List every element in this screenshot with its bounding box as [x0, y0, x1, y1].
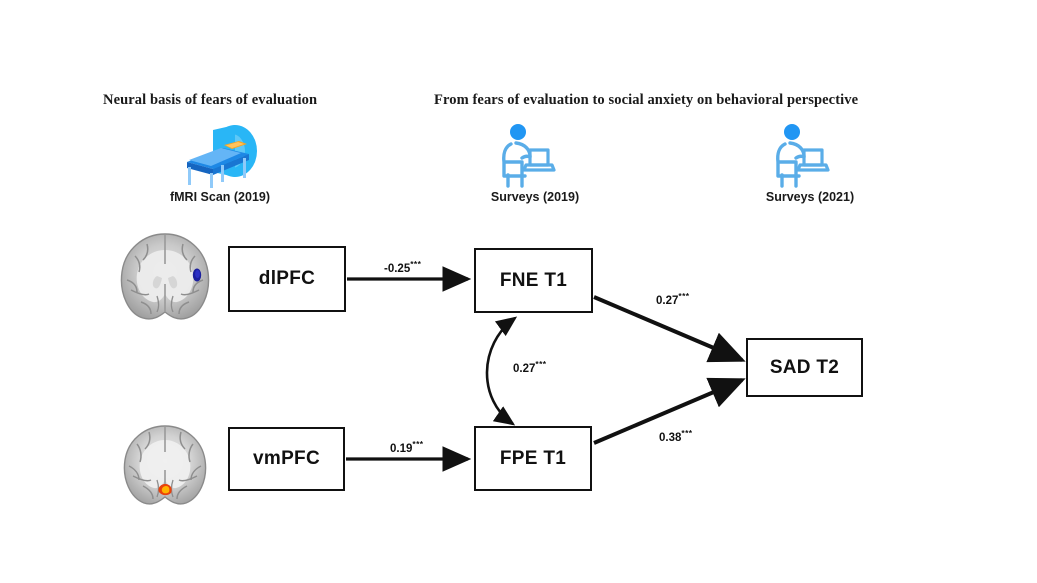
coef-value-vmpfc-to-fpe: 0.19	[390, 443, 412, 455]
node-box-fpe-t1[interactable]: FPE T1	[474, 426, 592, 491]
section-header-neural: Neural basis of fears of evaluation	[103, 92, 317, 109]
figure-canvas: Neural basis of fears of evaluation From…	[0, 0, 1037, 583]
fmri-caption: fMRI Scan (2019)	[120, 190, 320, 204]
node-label-fne-t1: FNE T1	[500, 270, 567, 292]
node-label-dlpfc: dlPFC	[259, 268, 315, 290]
node-label-sad-t2: SAD T2	[770, 357, 839, 379]
path-label-fpe-to-sad: 0.38***	[659, 428, 693, 444]
coef-sig-fne-fpe: ***	[535, 359, 546, 369]
mri-scanner-icon	[165, 118, 265, 190]
surveys-2021-caption: Surveys (2021)	[715, 190, 905, 204]
path-label-vmpfc-to-fpe: 0.19***	[390, 439, 424, 455]
node-box-sad-t2[interactable]: SAD T2	[746, 338, 863, 397]
coef-sig-dlpfc-to-fne: ***	[410, 259, 421, 269]
surveys-2019-caption: Surveys (2019)	[440, 190, 630, 204]
path-label-dlpfc-to-fne: -0.25***	[384, 259, 421, 275]
node-label-fpe-t1: FPE T1	[500, 448, 566, 470]
coef-sig-vmpfc-to-fpe: ***	[412, 439, 423, 449]
node-box-dlpfc[interactable]: dlPFC	[228, 246, 346, 312]
coef-value-fne-to-sad: 0.27	[656, 295, 678, 307]
node-box-fne-t1[interactable]: FNE T1	[474, 248, 593, 313]
coef-sig-fne-to-sad: ***	[678, 291, 689, 301]
coef-value-fpe-to-sad: 0.38	[659, 432, 681, 444]
person-laptop-survey-icon-t1	[492, 120, 564, 190]
path-fne-fpe-covariance	[487, 318, 515, 424]
coronal-brain-slice-vmpfc-icon	[113, 418, 218, 518]
node-label-vmpfc: vmPFC	[253, 448, 320, 470]
coef-value-dlpfc-to-fne: -0.25	[384, 263, 410, 275]
person-laptop-survey-icon-t2	[766, 120, 838, 190]
coef-value-fne-fpe: 0.27	[513, 363, 535, 375]
path-label-fne-fpe-covariance: 0.27***	[513, 359, 547, 375]
path-label-fne-to-sad: 0.27***	[656, 291, 690, 307]
coronal-brain-slice-dlpfc-icon	[113, 228, 218, 328]
node-box-vmpfc[interactable]: vmPFC	[228, 427, 345, 491]
coef-sig-fpe-to-sad: ***	[681, 428, 692, 438]
section-header-behavioral: From fears of evaluation to social anxie…	[434, 92, 858, 109]
